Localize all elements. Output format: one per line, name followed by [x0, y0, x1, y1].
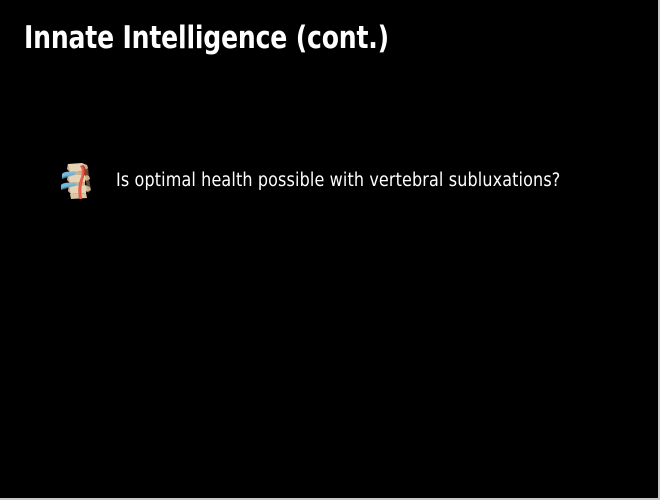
slide-canvas: Innate Intelligence (cont.) — [0, 0, 660, 500]
vertebra-spine-icon — [60, 162, 94, 200]
bullet-list: Is optimal health possible with vertebra… — [60, 162, 630, 200]
list-item: Is optimal health possible with vertebra… — [60, 162, 630, 200]
bullet-text: Is optimal health possible with vertebra… — [116, 170, 560, 192]
page-title: Innate Intelligence (cont.) — [24, 21, 564, 55]
